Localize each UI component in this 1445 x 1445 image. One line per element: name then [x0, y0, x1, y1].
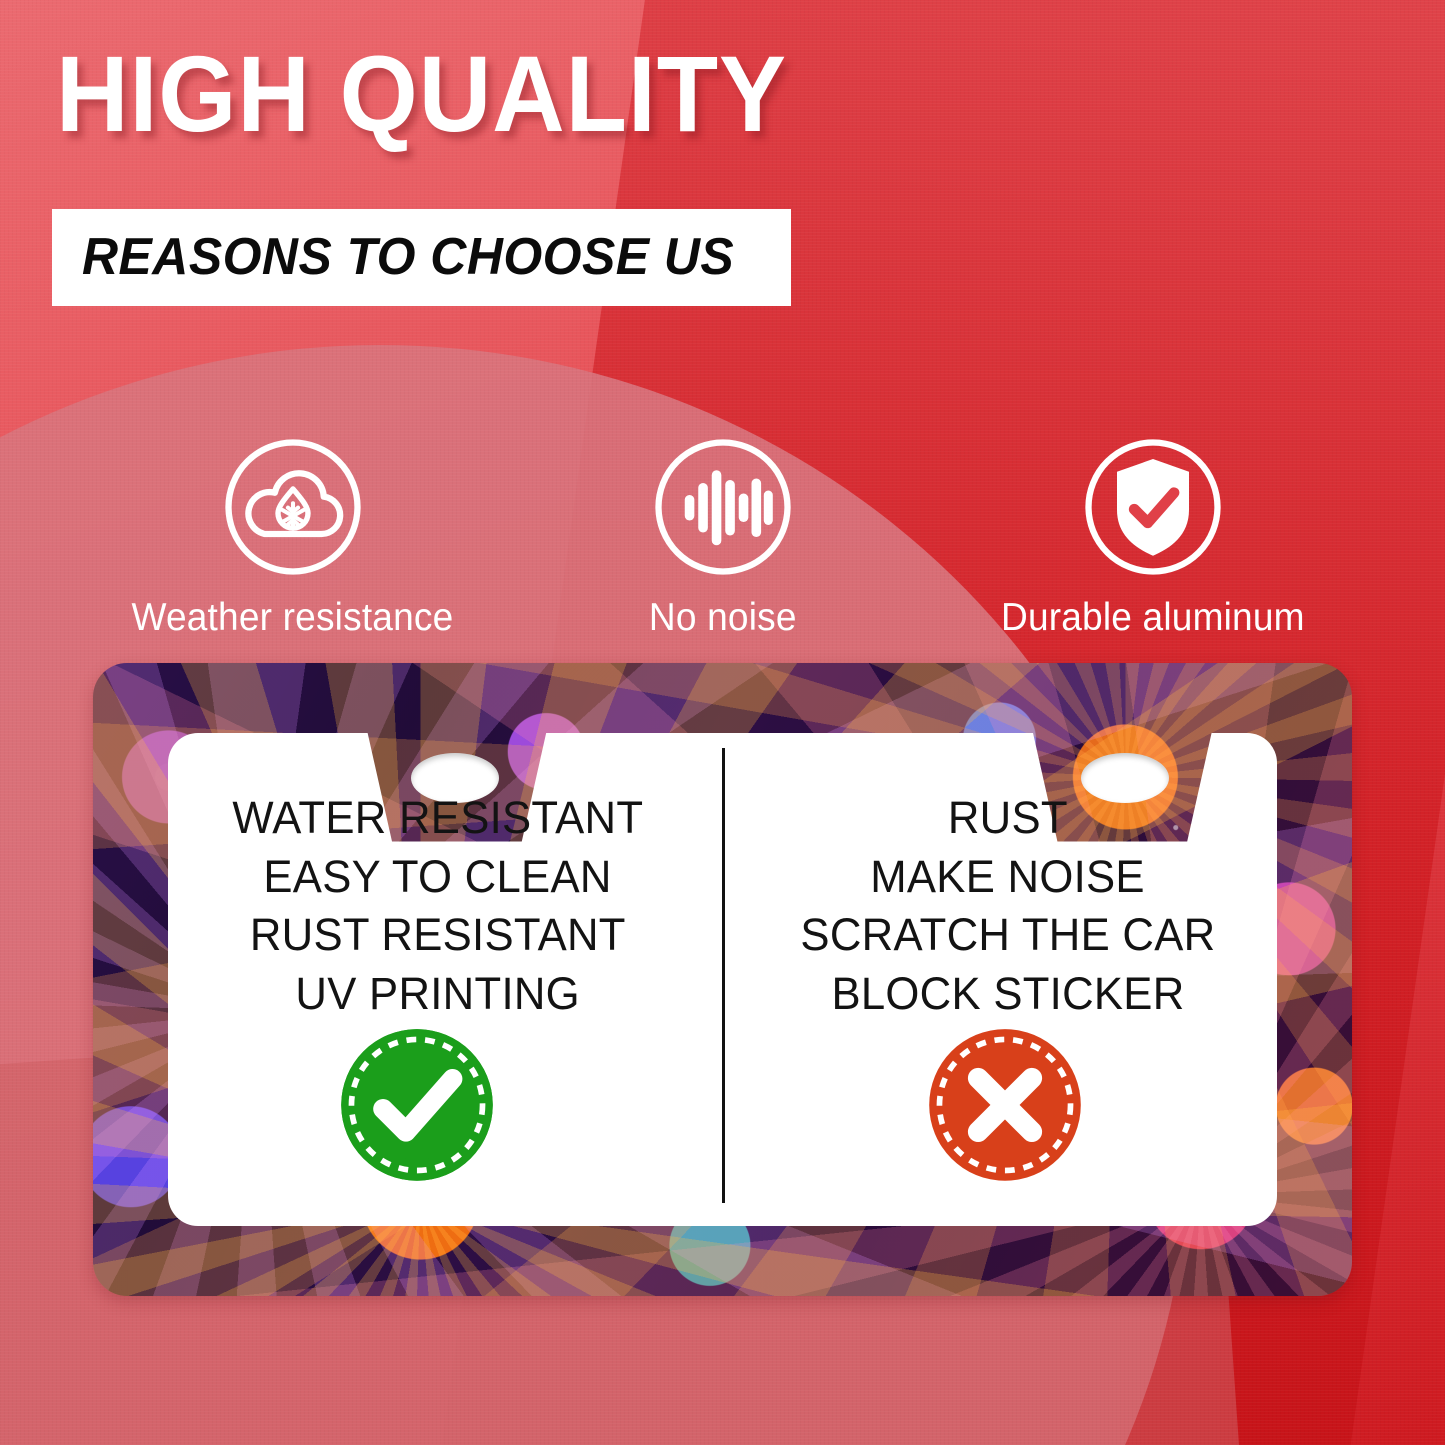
cons-line: RUST: [948, 789, 1068, 848]
feature-weather-resistance: Weather resistance: [78, 432, 508, 640]
feature-durable-aluminum: Durable aluminum: [938, 432, 1368, 640]
column-divider: [722, 748, 725, 1203]
sound-wave-icon: [648, 432, 798, 582]
pros-line: EASY TO CLEAN: [264, 848, 612, 907]
feature-label: Durable aluminum: [1001, 596, 1305, 640]
feature-label: No noise: [649, 596, 797, 640]
feature-label: Weather resistance: [132, 596, 454, 640]
cons-column: RUST MAKE NOISE SCRATCH THE CAR BLOCK ST…: [748, 789, 1268, 1023]
shield-check-icon: [1078, 432, 1228, 582]
cloud-droplet-snowflake-icon: [218, 432, 368, 582]
page-title: HIGH QUALITY: [56, 36, 787, 153]
pros-line: RUST RESISTANT: [250, 906, 626, 965]
cons-line: BLOCK STICKER: [831, 965, 1184, 1024]
product-infographic-poster: HIGH QUALITY REASONS TO CHOOSE US: [0, 0, 1445, 1445]
feature-row: Weather resistance No noise: [0, 432, 1445, 640]
cons-line: MAKE NOISE: [871, 848, 1146, 907]
feature-no-noise: No noise: [508, 432, 938, 640]
pros-line: WATER RESISTANT: [233, 789, 644, 848]
subtitle-banner: REASONS TO CHOOSE US: [52, 209, 791, 306]
license-plate-frame: WATER RESISTANT EASY TO CLEAN RUST RESIS…: [93, 663, 1352, 1296]
pros-column: WATER RESISTANT EASY TO CLEAN RUST RESIS…: [178, 789, 698, 1023]
verdict-badge-check: [338, 1026, 496, 1206]
cons-line: SCRATCH THE CAR: [800, 906, 1215, 965]
subtitle-text: REASONS TO CHOOSE US: [82, 227, 734, 287]
pros-line: UV PRINTING: [296, 965, 581, 1024]
verdict-badge-cross: [926, 1026, 1084, 1206]
